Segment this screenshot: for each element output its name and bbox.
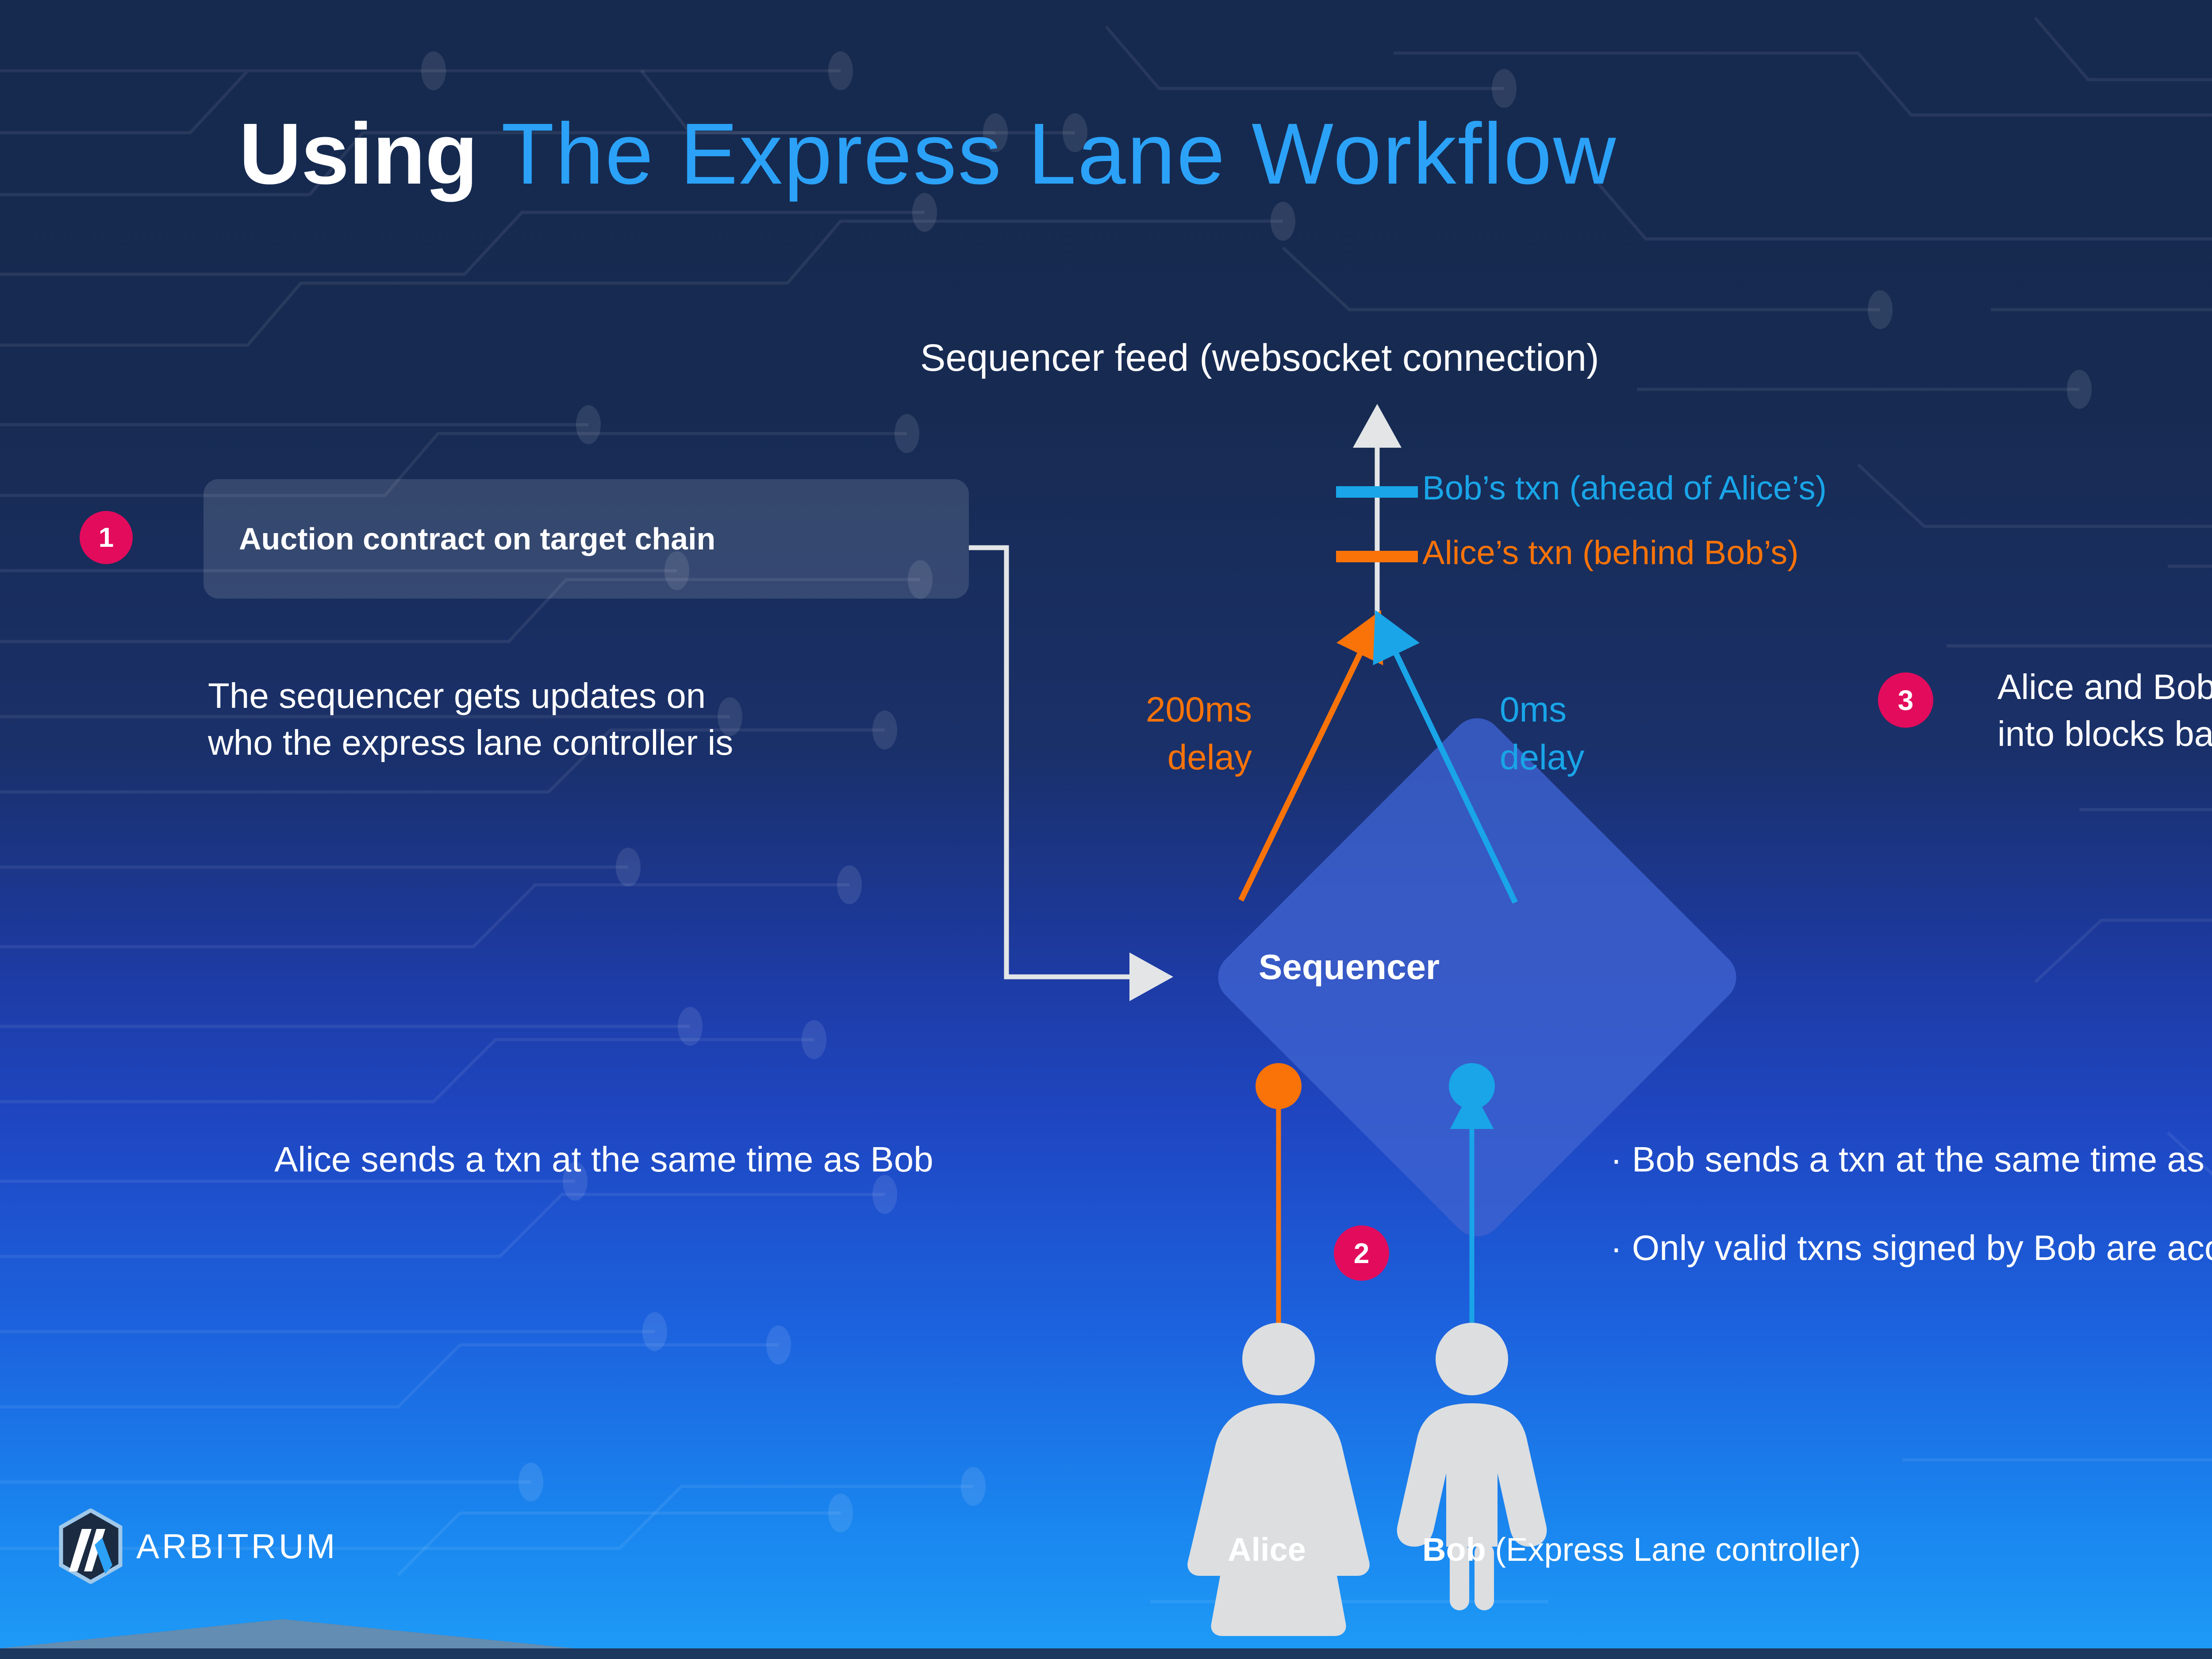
legend-label-bob-txn: Bob’s txn (ahead of Alice’s) [1422,469,1827,507]
alice-delay-label: 200ms delay [1084,686,1252,781]
bob-name-label: Bob (Express Lane controller) [1422,1531,1861,1568]
alice-submit-line [1256,1063,1302,1332]
arbitrum-wordmark: ARBITRUM [136,1526,338,1567]
bob-name-bold: Bob [1422,1531,1486,1568]
sequencer-feed-label: Sequencer feed (websocket connection) [920,336,1599,380]
bob-role-label: (Express Lane controller) [1486,1531,1861,1568]
arbitrum-logo: ARBITRUM [58,1509,338,1584]
alice-caption: Alice sends a txn at the same time as Bo… [274,1139,933,1180]
bob-bullet-2: · Only valid txns signed by Bob are acce… [1610,1228,2212,1268]
step-3-description: Alice and Bob's txns get ordered into bl… [1997,664,2212,758]
page-title: Using The Express Lane Workflow [239,111,1617,197]
diagram-vector-layer [0,0,2212,1659]
step-badge-1: 1 [80,511,133,564]
sequencer-label: Sequencer [1259,947,1440,987]
auction-contract-label: Auction contract on target chain [239,521,715,557]
arbitrum-mark-icon [58,1509,124,1584]
legend-label-alice-txn: Alice’s txn (behind Bob’s) [1422,534,1799,572]
step-badge-3: 3 [1878,672,1933,728]
title-strong: Using [239,105,477,202]
alice-name-label: Alice [1228,1531,1306,1568]
bob-bullet-1: · Bob sends a txn at the same time as Al… [1610,1139,2212,1180]
bob-delay-label: 0ms delay [1500,686,1686,781]
alice-figure [1187,1323,1370,1636]
step-badge-2: 2 [1334,1225,1389,1281]
step-1-description: The sequencer gets updates on who the ex… [208,672,733,767]
title-light: The Express Lane Workflow [501,105,1617,202]
